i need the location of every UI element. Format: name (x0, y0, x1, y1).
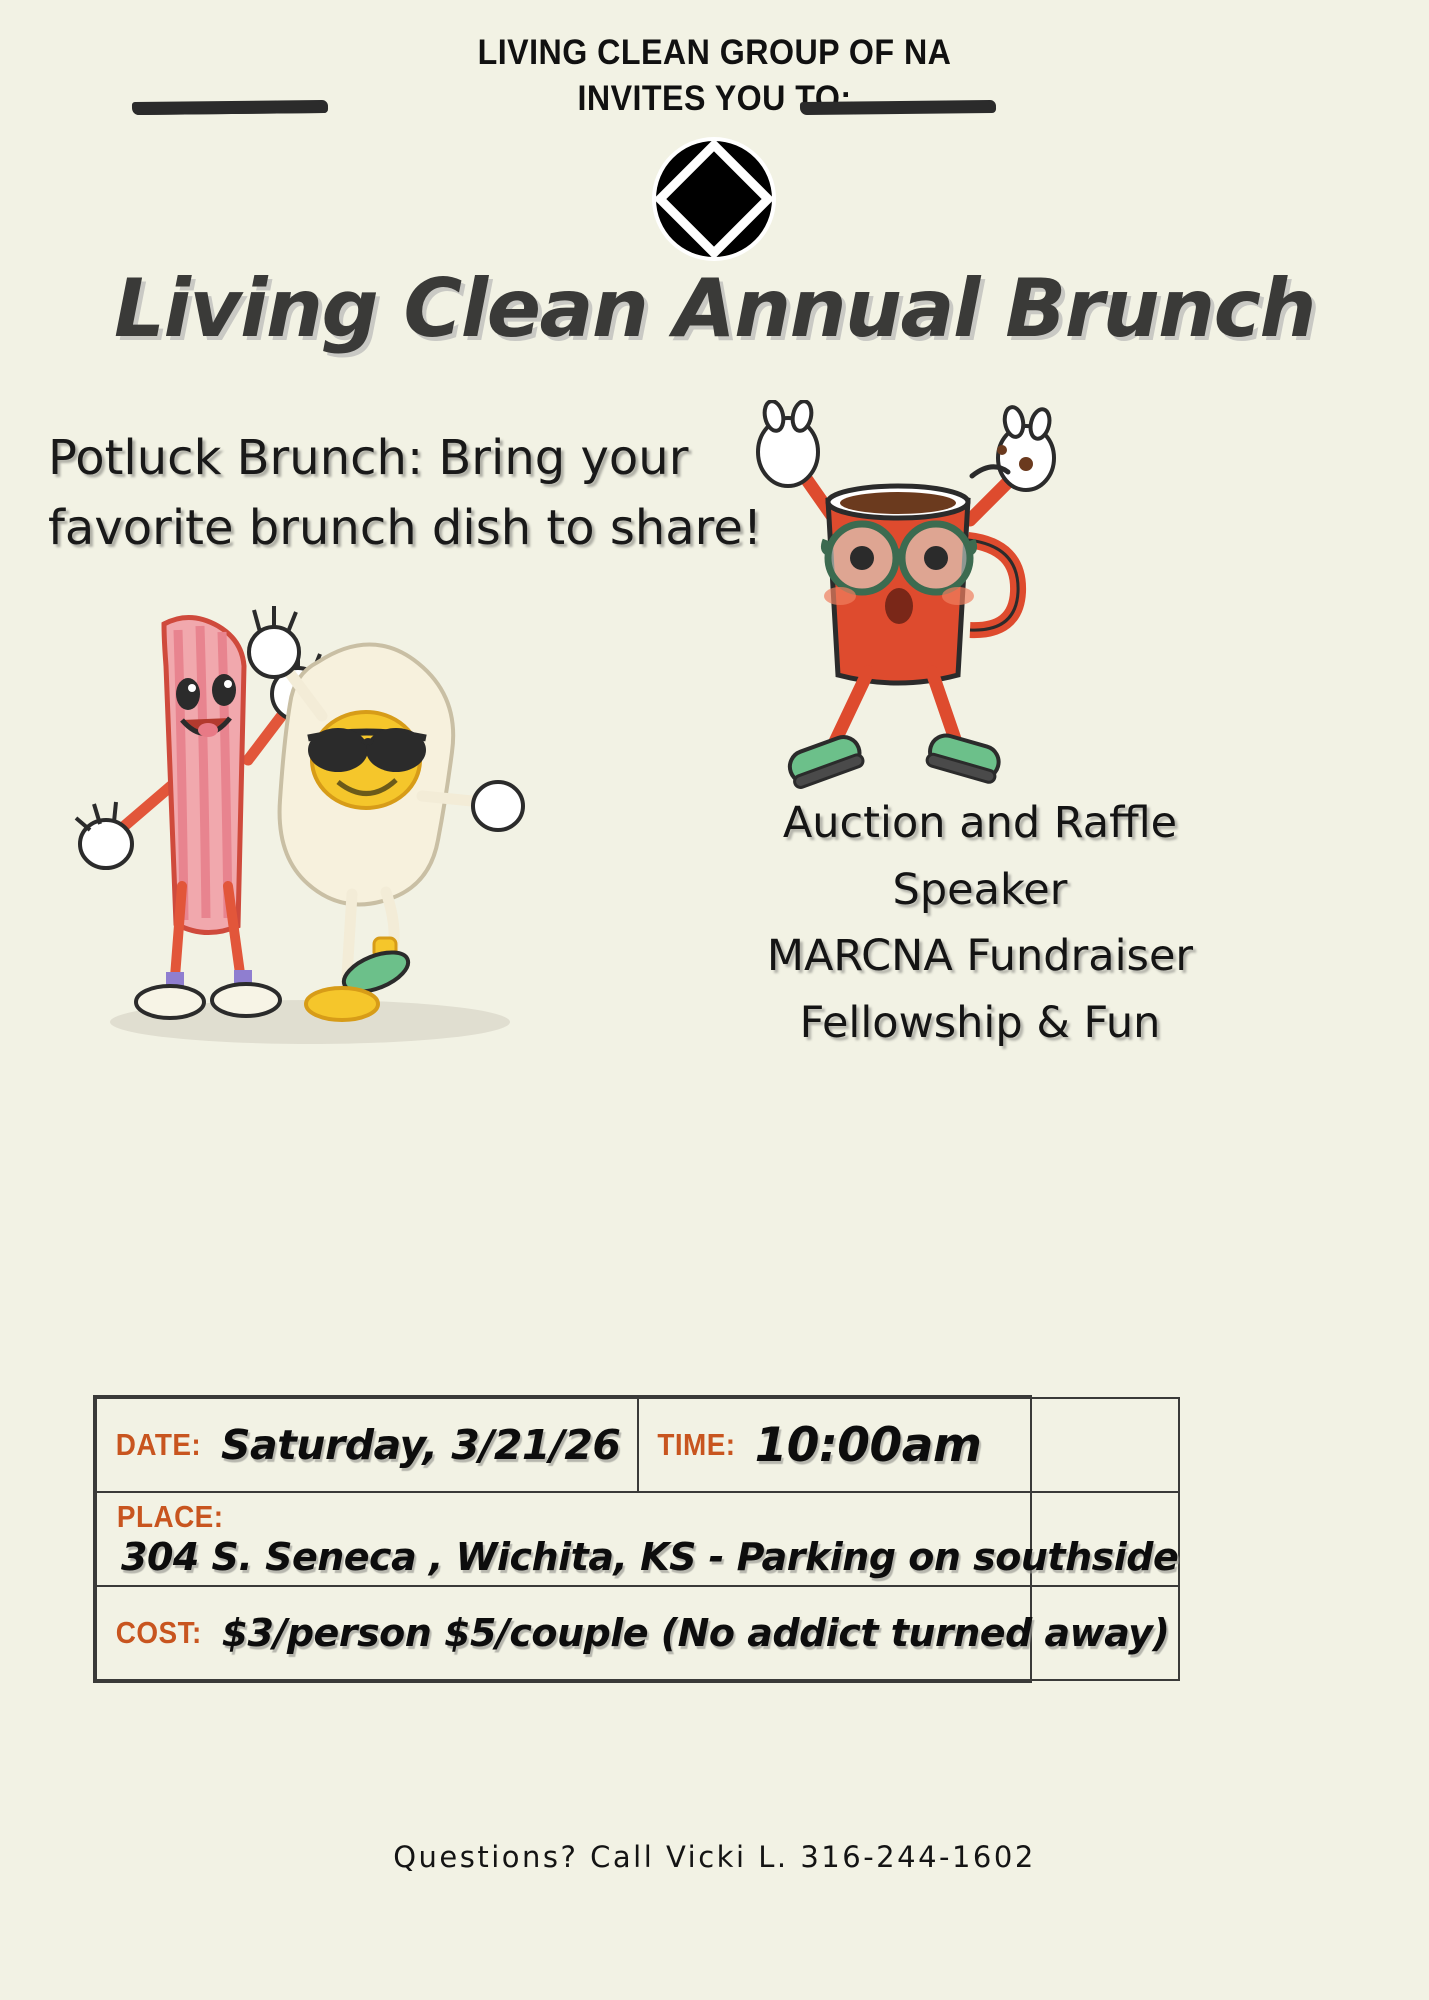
coffee-cup-character-illustration (740, 400, 1070, 790)
place-value: 304 S. Seneca , Wichita, KS - Parking on… (121, 1535, 1178, 1579)
table-row-date-time: DATE: Saturday, 3/21/26 TIME: 10:00am (96, 1398, 1179, 1492)
table-cell-cost: COST: $3/person $5/couple (No addict tur… (96, 1586, 1179, 1680)
date-label: DATE: (116, 1427, 201, 1463)
table-row-place: PLACE: 304 S. Seneca , Wichita, KS - Par… (96, 1492, 1179, 1586)
feature-item-auction: Auction and Raffle (540, 790, 1420, 857)
feature-item-fellowship: Fellowship & Fun (540, 990, 1420, 1057)
potluck-line-2: favorite brunch dish to share! (48, 494, 748, 564)
feature-item-speaker: Speaker (540, 857, 1420, 924)
fried-egg-character (249, 606, 523, 1020)
contact-footer: Questions? Call Vicki L. 316-244-1602 (0, 1840, 1429, 1874)
flyer-page: LIVING CLEAN GROUP OF NA INVITES YOU TO:… (0, 0, 1429, 2000)
header-line-2: INVITES YOU TO: (57, 76, 1372, 122)
cost-label: COST: (116, 1615, 202, 1651)
potluck-message: Potluck Brunch: Bring your favorite brun… (48, 424, 748, 563)
header-line-1: LIVING CLEAN GROUP OF NA (57, 30, 1372, 76)
time-value: 10:00am (755, 1418, 982, 1473)
cost-value: $3/person $5/couple (No addict turned aw… (222, 1611, 1170, 1655)
potluck-line-1: Potluck Brunch: Bring your (48, 424, 748, 494)
time-label: TIME: (657, 1427, 735, 1463)
page-title: Living Clean Annual Brunch (0, 262, 1429, 355)
na-service-symbol-icon (650, 135, 778, 263)
brush-stroke-right-icon (800, 100, 996, 115)
brush-stroke-left-icon (132, 100, 328, 115)
features-list: Auction and Raffle Speaker MARCNA Fundra… (540, 790, 1420, 1057)
place-label: PLACE: (117, 1499, 224, 1535)
table-cell-date: DATE: Saturday, 3/21/26 (96, 1398, 638, 1492)
table-cell-time: TIME: 10:00am (638, 1398, 1180, 1492)
date-value: Saturday, 3/21/26 (221, 1421, 620, 1469)
feature-item-marcna: MARCNA Fundraiser (540, 923, 1420, 990)
event-details-table: DATE: Saturday, 3/21/26 TIME: 10:00am PL… (93, 1395, 1032, 1683)
bacon-and-egg-characters-illustration (70, 590, 550, 1050)
table-cell-place: PLACE: 304 S. Seneca , Wichita, KS - Par… (96, 1492, 1179, 1586)
table-row-cost: COST: $3/person $5/couple (No addict tur… (96, 1586, 1179, 1680)
